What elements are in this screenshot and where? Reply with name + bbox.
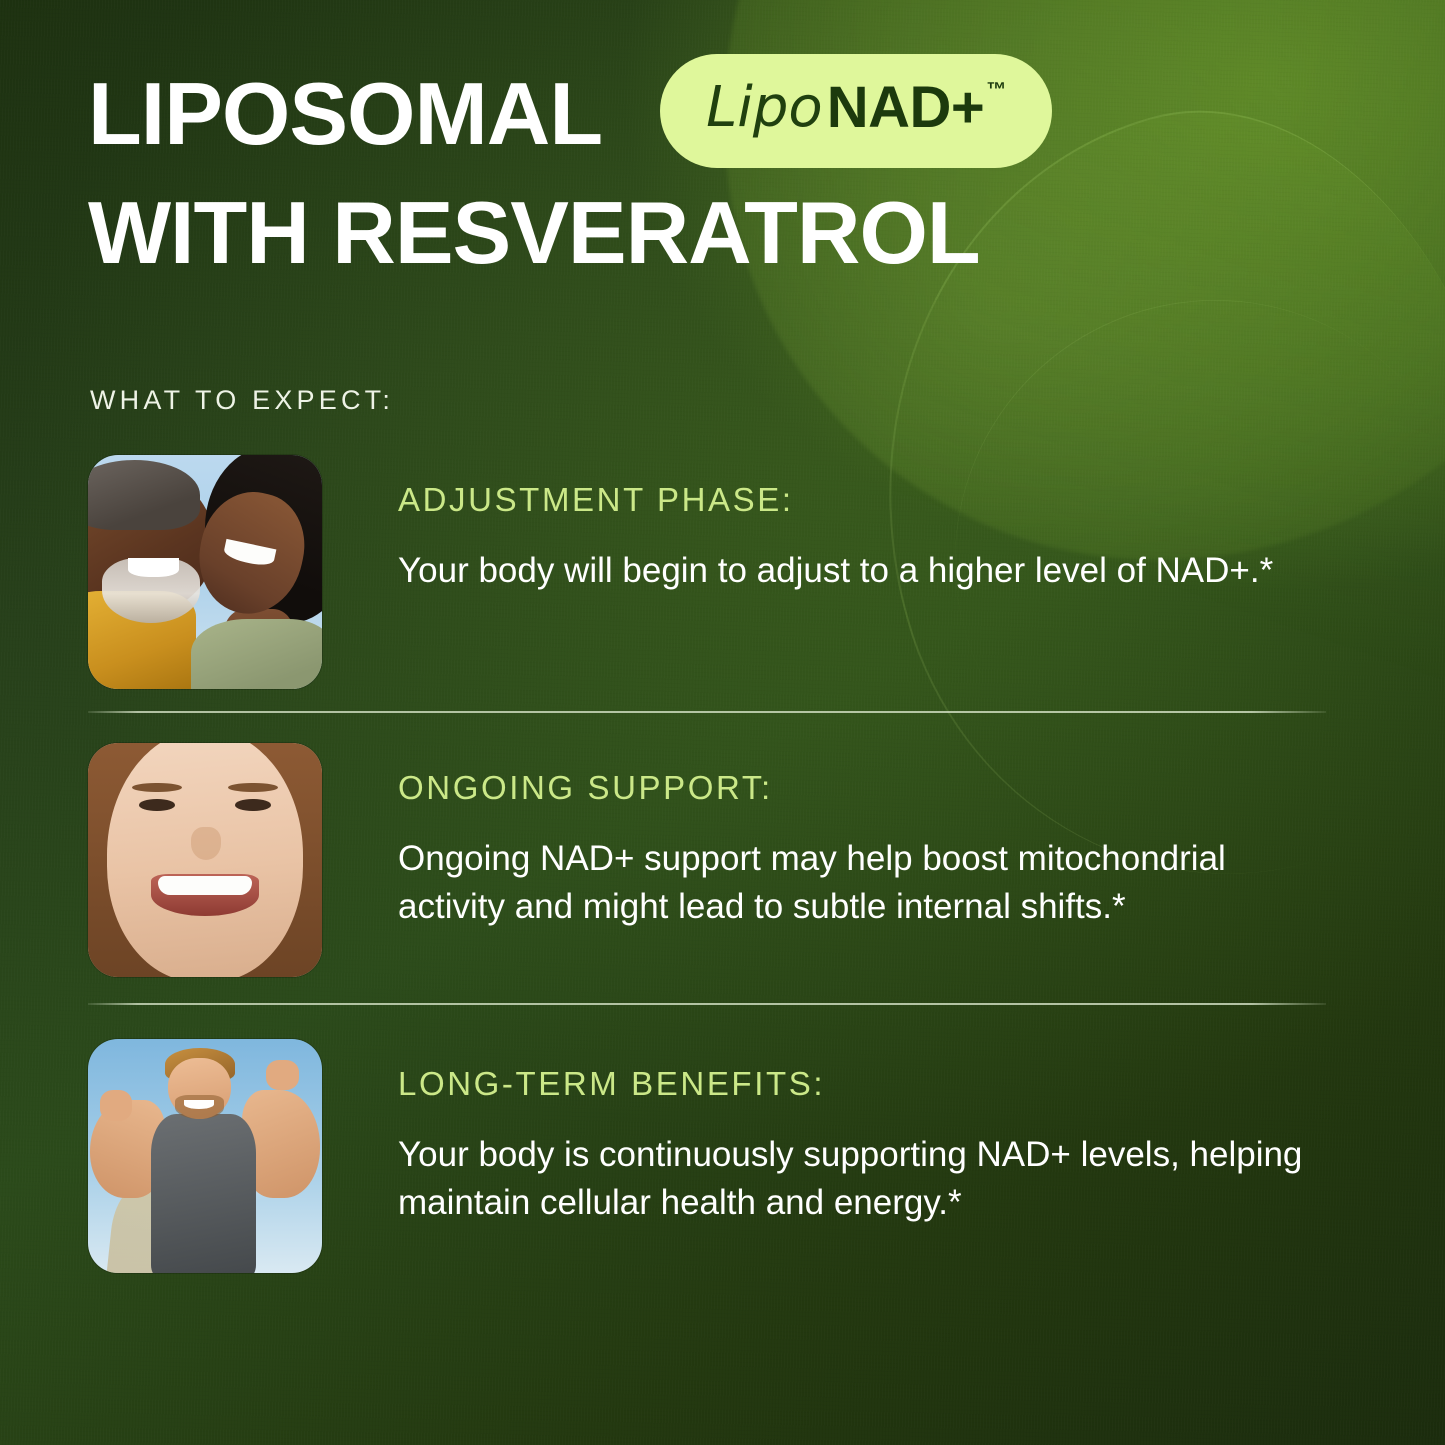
brand-badge-inner: Lipo NAD+ ™	[706, 76, 1006, 140]
section-thumbnail-long-term-benefits	[88, 1039, 322, 1273]
woman-left-eyebrow	[132, 783, 181, 792]
man-smile-shape	[128, 558, 179, 577]
man-flexing-photo	[88, 1039, 322, 1273]
page-title-line-1: LIPOSOMAL	[88, 71, 602, 157]
list-item: LONG-TERM BENEFITS: Your body is continu…	[88, 1005, 1328, 1273]
section-title-adjustment-phase: ADJUSTMENT PHASE:	[398, 481, 1328, 519]
trademark-symbol: ™	[986, 78, 1006, 102]
header: LIPOSOMAL Lipo NAD+ ™ WITH RESVERATROL	[88, 60, 1378, 276]
brand-prefix: Lipo	[706, 76, 823, 140]
section-copy: LONG-TERM BENEFITS: Your body is continu…	[398, 1039, 1328, 1228]
section-title-long-term-benefits: LONG-TERM BENEFITS:	[398, 1065, 1328, 1103]
list-item: ONGOING SUPPORT: Ongoing NAD+ support ma…	[88, 713, 1328, 1003]
section-thumbnail-adjustment-phase	[88, 455, 322, 689]
section-body-ongoing-support: Ongoing NAD+ support may help boost mito…	[398, 835, 1328, 932]
section-copy: ONGOING SUPPORT: Ongoing NAD+ support ma…	[398, 743, 1328, 932]
man-right-fist-shape	[266, 1060, 299, 1090]
page-title-line-2: WITH RESVERATROL	[88, 190, 1378, 276]
man-left-fist-shape	[100, 1090, 133, 1120]
woman-right-eyebrow	[228, 783, 277, 792]
list-item: ADJUSTMENT PHASE: Your body will begin t…	[88, 455, 1328, 711]
smiling-woman-photo	[88, 743, 322, 977]
title-row: LIPOSOMAL Lipo NAD+ ™	[88, 60, 1378, 168]
eyebrow-label: WHAT TO EXPECT:	[90, 385, 394, 416]
brand-badge: Lipo NAD+ ™	[660, 54, 1052, 168]
expectations-list: ADJUSTMENT PHASE: Your body will begin t…	[88, 455, 1328, 1273]
section-thumbnail-ongoing-support	[88, 743, 322, 977]
promo-canvas: LIPOSOMAL Lipo NAD+ ™ WITH RESVERATROL W…	[0, 0, 1445, 1445]
couple-laughing-photo	[88, 455, 322, 689]
woman-teeth-shape	[158, 876, 252, 895]
woman-left-eye	[139, 799, 174, 811]
section-body-long-term-benefits: Your body is continuously supporting NAD…	[398, 1131, 1328, 1228]
section-copy: ADJUSTMENT PHASE: Your body will begin t…	[398, 455, 1328, 595]
section-title-ongoing-support: ONGOING SUPPORT:	[398, 769, 1328, 807]
woman-tank-top-shape	[191, 619, 322, 689]
woman-right-eye	[235, 799, 270, 811]
section-body-adjustment-phase: Your body will begin to adjust to a high…	[398, 547, 1328, 595]
man-gray-tank-top-shape	[151, 1114, 256, 1273]
brand-name: NAD+	[827, 76, 985, 140]
woman-face-shape	[107, 743, 304, 977]
